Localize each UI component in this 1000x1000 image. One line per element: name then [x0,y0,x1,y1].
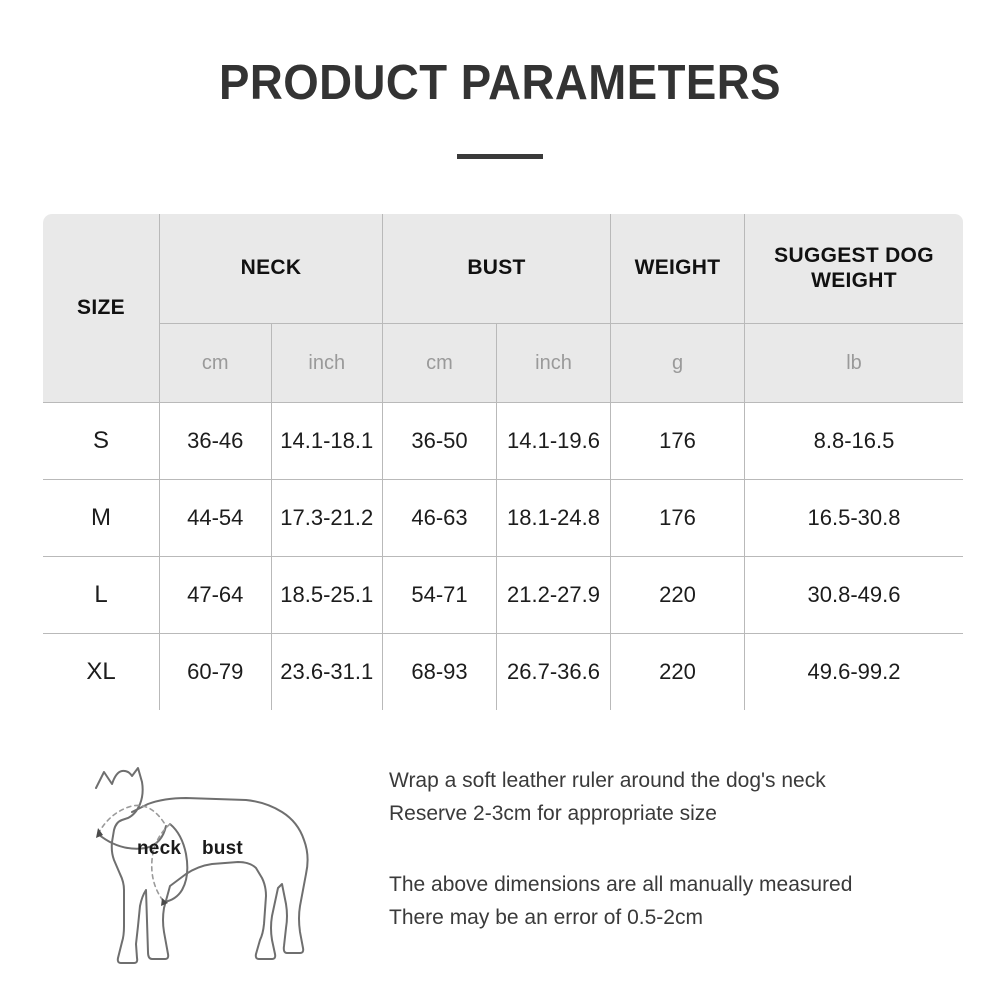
cell-bust-cm: 46-63 [383,480,497,557]
table-header-row-units: cm inch cm inch g lb [43,324,964,403]
measurement-guide-section: neck bust Wrap a soft leather ruler arou… [0,748,1000,978]
diagram-label-neck: neck [137,838,181,860]
cell-size: M [43,480,160,557]
cell-size: XL [43,634,160,711]
column-header-size: SIZE [43,214,160,403]
table-header: SIZE NECK BUST WEIGHT SUGGEST DOG WEIGHT… [43,214,964,403]
table-row: XL 60-79 23.6-31.1 68-93 26.7-36.6 220 4… [43,634,964,711]
cell-bust-cm: 68-93 [383,634,497,711]
cell-neck-inch: 14.1-18.1 [271,403,383,480]
column-header-bust: BUST [383,214,611,324]
cell-suggest-lb: 16.5-30.8 [745,480,964,557]
unit-header-bust-cm: cm [383,324,497,403]
title-divider [457,154,543,159]
cell-size: S [43,403,160,480]
table-row: S 36-46 14.1-18.1 36-50 14.1-19.6 176 8.… [43,403,964,480]
cell-weight-g: 176 [611,403,745,480]
note-paragraph-2: The above dimensions are all manually me… [389,868,949,934]
column-header-neck: NECK [160,214,383,324]
measurement-notes: Wrap a soft leather ruler around the dog… [389,764,949,934]
note-line: The above dimensions are all manually me… [389,868,949,901]
cell-bust-inch: 18.1-24.8 [497,480,611,557]
title-block: PRODUCT PARAMETERS [0,58,1000,159]
page-title: PRODUCT PARAMETERS [35,58,965,109]
cell-bust-inch: 14.1-19.6 [497,403,611,480]
cell-bust-cm: 36-50 [383,403,497,480]
note-line: There may be an error of 0.5-2cm [389,901,949,934]
cell-neck-cm: 36-46 [160,403,272,480]
column-header-weight: WEIGHT [611,214,745,324]
table-row: L 47-64 18.5-25.1 54-71 21.2-27.9 220 30… [43,557,964,634]
note-line: Reserve 2-3cm for appropriate size [389,797,949,830]
cell-size: L [43,557,160,634]
cell-neck-inch: 18.5-25.1 [271,557,383,634]
diagram-label-bust: bust [202,838,243,860]
cell-neck-cm: 60-79 [160,634,272,711]
cell-suggest-lb: 30.8-49.6 [745,557,964,634]
note-paragraph-1: Wrap a soft leather ruler around the dog… [389,764,949,830]
cell-weight-g: 220 [611,557,745,634]
cell-bust-cm: 54-71 [383,557,497,634]
unit-header-weight-g: g [611,324,745,403]
cell-suggest-lb: 49.6-99.2 [745,634,964,711]
size-chart-table-wrapper: SIZE NECK BUST WEIGHT SUGGEST DOG WEIGHT… [42,213,958,711]
unit-header-neck-cm: cm [160,324,272,403]
cell-bust-inch: 26.7-36.6 [497,634,611,711]
cell-weight-g: 220 [611,634,745,711]
unit-header-suggest-lb: lb [745,324,964,403]
cell-bust-inch: 21.2-27.9 [497,557,611,634]
cell-neck-inch: 17.3-21.2 [271,480,383,557]
cell-neck-inch: 23.6-31.1 [271,634,383,711]
cell-weight-g: 176 [611,480,745,557]
size-chart-table: SIZE NECK BUST WEIGHT SUGGEST DOG WEIGHT… [42,213,964,711]
dog-outline-svg [66,756,366,971]
cell-neck-cm: 44-54 [160,480,272,557]
note-line: Wrap a soft leather ruler around the dog… [389,764,949,797]
cell-suggest-lb: 8.8-16.5 [745,403,964,480]
table-row: M 44-54 17.3-21.2 46-63 18.1-24.8 176 16… [43,480,964,557]
dog-outline-illustration-icon: neck bust [66,756,366,971]
cell-neck-cm: 47-64 [160,557,272,634]
column-header-suggest-dog-weight: SUGGEST DOG WEIGHT [745,214,964,324]
table-header-row-groups: SIZE NECK BUST WEIGHT SUGGEST DOG WEIGHT [43,214,964,324]
unit-header-neck-inch: inch [271,324,383,403]
table-body: S 36-46 14.1-18.1 36-50 14.1-19.6 176 8.… [43,403,964,711]
unit-header-bust-inch: inch [497,324,611,403]
